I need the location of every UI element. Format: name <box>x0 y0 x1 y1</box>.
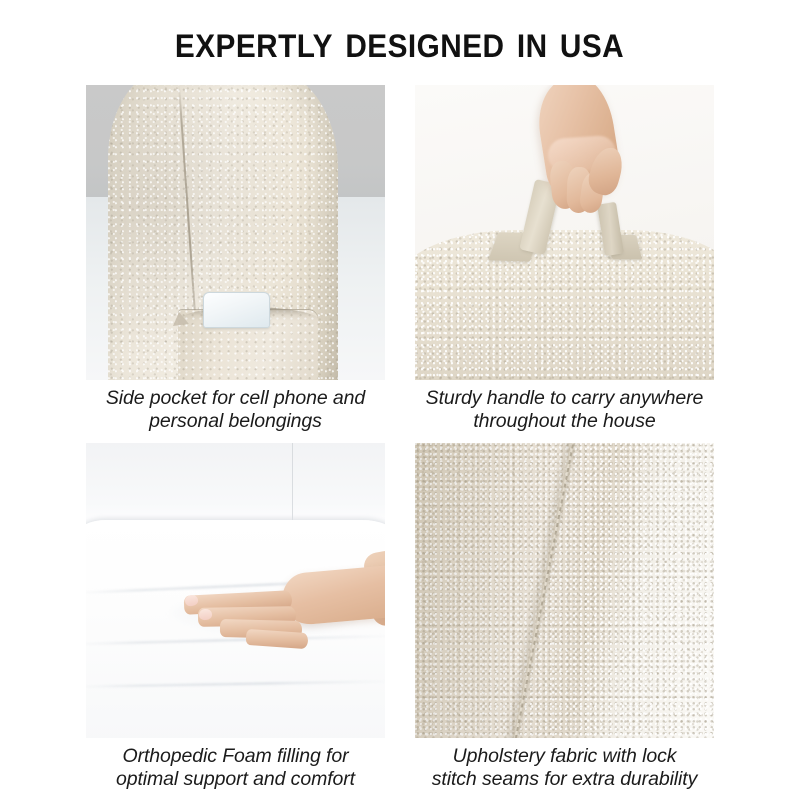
caption-line-2: personal belongings <box>86 410 385 433</box>
feature-caption-lock-stitch-seam: Upholstery fabric with lock stitch seams… <box>415 745 714 791</box>
feature-card-lock-stitch-seam: Upholstery fabric with lock stitch seams… <box>415 443 714 791</box>
feature-image-side-pocket <box>86 85 385 380</box>
feature-grid: Side pocket for cell phone and personal … <box>86 85 714 785</box>
feature-card-carry-handle: Sturdy handle to carry anywhere througho… <box>415 85 714 433</box>
caption-line-2: optimal support and comfort <box>86 768 385 791</box>
caption-line-2: throughout the house <box>415 410 714 433</box>
caption-line-1: Side pocket for cell phone and <box>86 387 385 410</box>
feature-card-side-pocket: Side pocket for cell phone and personal … <box>86 85 385 433</box>
caption-line-1: Upholstery fabric with lock <box>415 745 714 768</box>
caption-line-1: Sturdy handle to carry anywhere <box>415 387 714 410</box>
page-title: Expertly Designed in USA <box>175 18 624 64</box>
cell-phone <box>203 292 270 328</box>
feature-image-lock-stitch-seam <box>415 443 714 738</box>
feature-caption-side-pocket: Side pocket for cell phone and personal … <box>86 387 385 433</box>
feature-caption-carry-handle: Sturdy handle to carry anywhere througho… <box>415 387 714 433</box>
fabric-shading <box>415 443 600 738</box>
feature-image-carry-handle <box>415 85 714 380</box>
wall-seam <box>292 443 293 520</box>
caption-line-2: stitch seams for extra durability <box>415 768 714 791</box>
feature-card-orthopedic-foam: Orthopedic Foam filling for optimal supp… <box>86 443 385 791</box>
boucle-cushion <box>415 230 714 380</box>
feature-caption-orthopedic-foam: Orthopedic Foam filling for optimal supp… <box>86 745 385 791</box>
page-header: Expertly Designed in USA <box>0 0 800 82</box>
wall-background <box>86 443 385 523</box>
pocket-corner-notch <box>171 311 189 326</box>
feature-image-orthopedic-foam <box>86 443 385 738</box>
caption-line-1: Orthopedic Foam filling for <box>86 745 385 768</box>
